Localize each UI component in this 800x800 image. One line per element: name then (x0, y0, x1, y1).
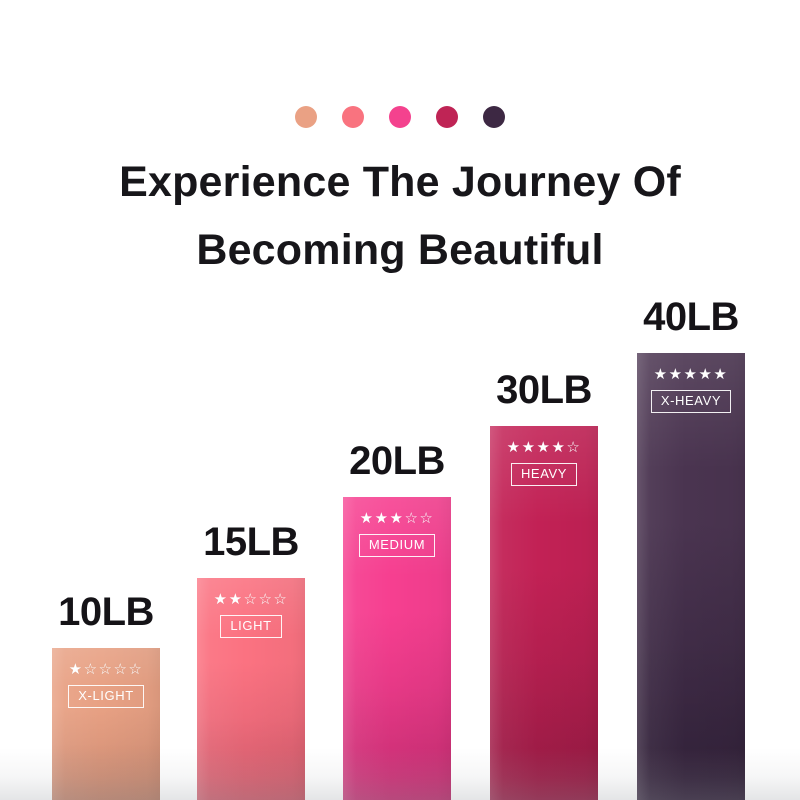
bar-content: ★★★★★ X-HEAVY (637, 353, 745, 413)
star-rating-icon: ★★☆☆☆ (197, 592, 305, 608)
star-rating-icon: ★★★☆☆ (343, 511, 451, 527)
bar-medium[interactable]: ★★★☆☆ MEDIUM (343, 497, 451, 800)
bar-heavy[interactable]: ★★★★☆ HEAVY (490, 426, 598, 800)
star-rating-icon: ★★★★☆ (490, 440, 598, 456)
bar-content: ★☆☆☆☆ X-LIGHT (52, 648, 160, 708)
bar-weight-label: 15LB (197, 522, 305, 562)
bar-group-x-light: 10LB ★☆☆☆☆ X-LIGHT (52, 592, 160, 800)
bar-group-heavy: 30LB ★★★★☆ HEAVY (490, 370, 598, 800)
bar-weight-label: 30LB (490, 370, 598, 410)
tier-badge: HEAVY (511, 463, 577, 486)
tier-badge: X-LIGHT (68, 685, 143, 708)
bar-x-light[interactable]: ★☆☆☆☆ X-LIGHT (52, 648, 160, 800)
bar-content: ★★★☆☆ MEDIUM (343, 497, 451, 557)
bar-weight-label: 10LB (52, 592, 160, 632)
tier-badge: LIGHT (220, 615, 281, 638)
star-rating-icon: ★★★★★ (637, 367, 745, 383)
bar-group-light: 15LB ★★☆☆☆ LIGHT (197, 522, 305, 800)
bar-weight-label: 20LB (343, 441, 451, 481)
bar-group-x-heavy: 40LB ★★★★★ X-HEAVY (637, 297, 745, 800)
bar-light[interactable]: ★★☆☆☆ LIGHT (197, 578, 305, 800)
bar-group-medium: 20LB ★★★☆☆ MEDIUM (343, 441, 451, 800)
bar-x-heavy[interactable]: ★★★★★ X-HEAVY (637, 353, 745, 800)
tier-badge: X-HEAVY (651, 390, 731, 413)
star-rating-icon: ★☆☆☆☆ (52, 662, 160, 678)
resistance-band-bar-chart: 10LB ★☆☆☆☆ X-LIGHT 15LB ★★☆☆☆ LIGHT 20LB… (0, 0, 800, 800)
bar-content: ★★★★☆ HEAVY (490, 426, 598, 486)
bar-weight-label: 40LB (637, 297, 745, 337)
tier-badge: MEDIUM (359, 534, 435, 557)
bar-content: ★★☆☆☆ LIGHT (197, 578, 305, 638)
